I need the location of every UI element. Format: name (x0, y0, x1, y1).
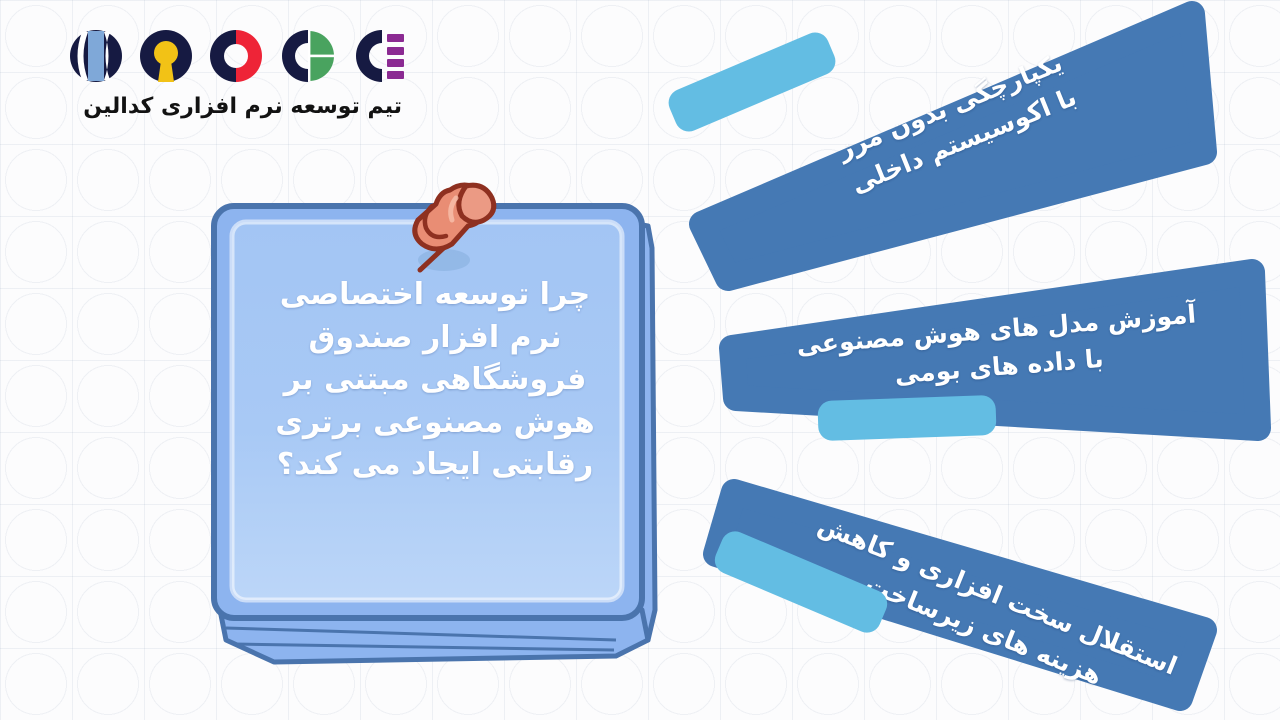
logo-row (68, 28, 404, 84)
note-line: رقابتی ایجاد می کند؟ (252, 444, 618, 487)
logo-mark-split-circle (68, 28, 124, 84)
note-line: نرم افزار صندوق (252, 317, 618, 360)
note-line: فروشگاهی مبتنی بر (252, 359, 618, 402)
logo-mark-duo-ring (208, 28, 264, 84)
note-line: هوش مصنوعی برتری (252, 402, 618, 445)
logo-mark-c-bars (348, 28, 404, 84)
accent-bar-2 (817, 395, 996, 441)
pushpin-icon (392, 174, 512, 292)
brand-block: تیم توسعه نرم افزاری کدالین (44, 28, 404, 119)
banner-integration: یکپارچگی بدون مرز با اکوسیستم داخلی (668, 6, 1208, 286)
logo-mark-pie-c (278, 28, 334, 84)
brand-name: تیم توسعه نرم افزاری کدالین (83, 94, 402, 119)
note-text: چرا توسعه اختصاصی نرم افزار صندوق فروشگا… (252, 274, 618, 487)
logo-mark-keyhole (138, 28, 194, 84)
infographic-canvas: تیم توسعه نرم افزاری کدالین (0, 0, 1280, 720)
note-card: چرا توسعه اختصاصی نرم افزار صندوق فروشگا… (196, 170, 696, 670)
